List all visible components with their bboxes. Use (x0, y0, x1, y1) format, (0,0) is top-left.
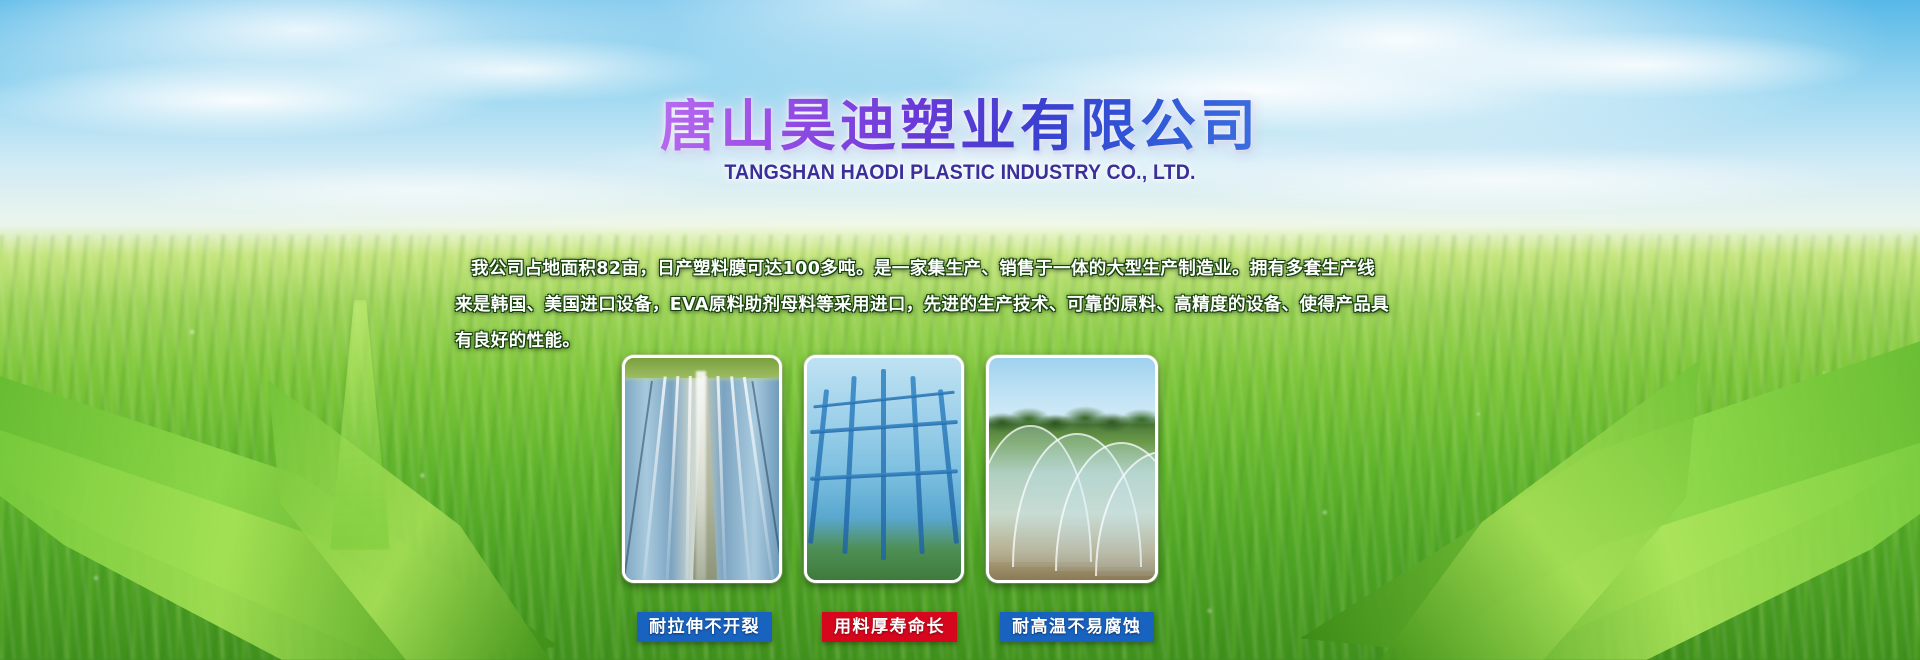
intro-line-2: 来是韩国、美国进口设备，EVA原料助剂母料等采用进口，先进的生产技术、可靠的原料… (455, 288, 1415, 324)
intro-line-1: 我公司占地面积82亩，日产塑料膜可达100多吨。是一家集生产、销售于一体的大型生… (455, 252, 1415, 288)
badge-tensile-resistant[interactable]: 耐拉伸不开裂 (637, 612, 772, 642)
banner-stage: 唐山昊迪塑业有限公司 TANGSHAN HAODI PLASTIC INDUST… (0, 0, 1920, 660)
product-photo-card-3[interactable] (986, 355, 1158, 583)
company-name-english: TANGSHAN HAODI PLASTIC INDUSTRY CO., LTD… (67, 161, 1853, 185)
feature-badge-row: 耐拉伸不开裂 用料厚寿命长 耐高温不易腐蚀 (0, 612, 1920, 646)
blue-greenhouse-frame-structure-image (807, 358, 961, 580)
product-photo-gallery (622, 355, 1182, 595)
company-intro-paragraph: 我公司占地面积82亩，日产塑料膜可达100多吨。是一家集生产、销售于一体的大型生… (455, 252, 1415, 360)
product-photo-card-1[interactable] (622, 355, 782, 583)
brand-heading-block: 唐山昊迪塑业有限公司 TANGSHAN HAODI PLASTIC INDUST… (0, 98, 1920, 185)
blue-film-greenhouse-tunnel-rows-image (625, 358, 779, 580)
product-photo-card-2[interactable] (804, 355, 964, 583)
badge-heat-corrosion-resistant[interactable]: 耐高温不易腐蚀 (1000, 612, 1154, 642)
badge-thick-long-life[interactable]: 用料厚寿命长 (822, 612, 957, 642)
company-name-chinese: 唐山昊迪塑业有限公司 (660, 98, 1260, 157)
clear-film-greenhouse-arch-image (989, 358, 1155, 580)
